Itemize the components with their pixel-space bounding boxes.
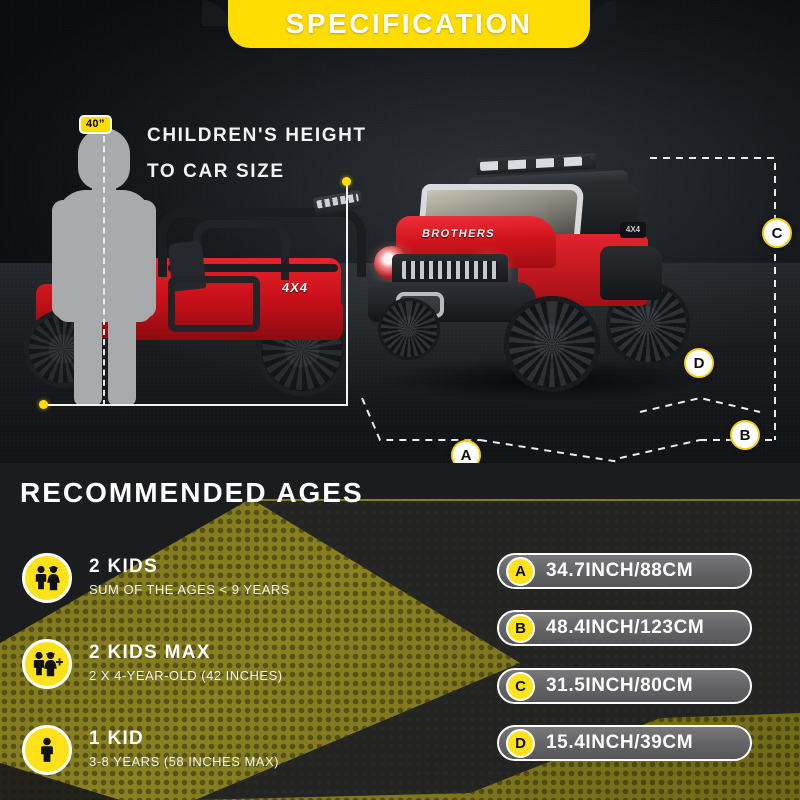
headline-line-2: TO CAR SIZE xyxy=(147,154,367,190)
dimension-dashed-paths xyxy=(0,0,800,463)
dash-path-b-left xyxy=(620,440,700,458)
dash-path-d xyxy=(640,398,760,412)
age-text-two-kids: 2 KIDS SUM OF THE AGES < 9 YEARS xyxy=(89,556,290,600)
age-text-two-kids-max: 2 KIDS MAX 2 X 4-YEAR-OLD (42 INCHES) xyxy=(89,642,283,686)
age-row-one-kid: 1 KID 3-8 YEARS (58 INCHES MAX) xyxy=(22,725,279,775)
specification-infographic: 4X4 4X4 BROTHERS xyxy=(0,0,800,800)
age-row-two-kids: 2 KIDS SUM OF THE AGES < 9 YEARS xyxy=(22,553,290,603)
dimension-pill-a: A 34.7INCH/88CM xyxy=(497,553,752,589)
dash-path-c xyxy=(650,158,775,440)
two-kids-icon xyxy=(22,553,72,603)
height-badge-40in: 40” xyxy=(79,115,112,134)
baseline-measure-line xyxy=(44,404,348,406)
section-title: RECOMMENDED AGES xyxy=(20,477,364,509)
page-title: SPECIFICATION xyxy=(228,4,590,44)
age-main-label: 2 KIDS xyxy=(89,556,290,578)
dimension-letter-d: D xyxy=(506,729,535,758)
hero-photo-section: 4X4 4X4 BROTHERS xyxy=(0,0,800,463)
dimension-letter-c: C xyxy=(506,672,535,701)
age-main-label: 2 KIDS MAX xyxy=(89,642,283,664)
dash-path-a-left xyxy=(362,398,480,440)
age-text-one-kid: 1 KID 3-8 YEARS (58 INCHES MAX) xyxy=(89,728,279,772)
dimension-value-a: 34.7INCH/88CM xyxy=(546,560,693,582)
dash-path-a-right xyxy=(480,440,620,462)
one-kid-icon xyxy=(22,725,72,775)
age-sub-label: 2 X 4-YEAR-OLD (42 INCHES) xyxy=(89,666,283,686)
dimension-value-d: 15.4INCH/39CM xyxy=(546,732,693,754)
callout-badge-b: B xyxy=(730,420,760,450)
vertical-measure-line xyxy=(346,181,348,406)
two-kids-plus-icon xyxy=(22,639,72,689)
dimension-pill-c: C 31.5INCH/80CM xyxy=(497,668,752,704)
callout-badge-a: A xyxy=(451,440,481,463)
hero-headline: CHILDREN'S HEIGHT TO CAR SIZE xyxy=(147,118,367,190)
age-row-two-kids-max: 2 KIDS MAX 2 X 4-YEAR-OLD (42 INCHES) xyxy=(22,639,283,689)
dimension-value-b: 48.4INCH/123CM xyxy=(546,617,704,639)
dimension-value-c: 31.5INCH/80CM xyxy=(546,675,693,697)
callout-badge-c: C xyxy=(762,218,792,248)
dimension-pill-b: B 48.4INCH/123CM xyxy=(497,610,752,646)
dimension-letter-a: A xyxy=(506,557,535,586)
age-sub-label: SUM OF THE AGES < 9 YEARS xyxy=(89,580,290,600)
measure-dot-left xyxy=(39,400,48,409)
age-main-label: 1 KID xyxy=(89,728,279,750)
age-sub-label: 3-8 YEARS (58 INCHES MAX) xyxy=(89,752,279,772)
dimension-letter-b: B xyxy=(506,614,535,643)
dimension-pill-d: D 15.4INCH/39CM xyxy=(497,725,752,761)
headline-line-1: CHILDREN'S HEIGHT xyxy=(147,118,367,154)
callout-badge-d: D xyxy=(684,348,714,378)
